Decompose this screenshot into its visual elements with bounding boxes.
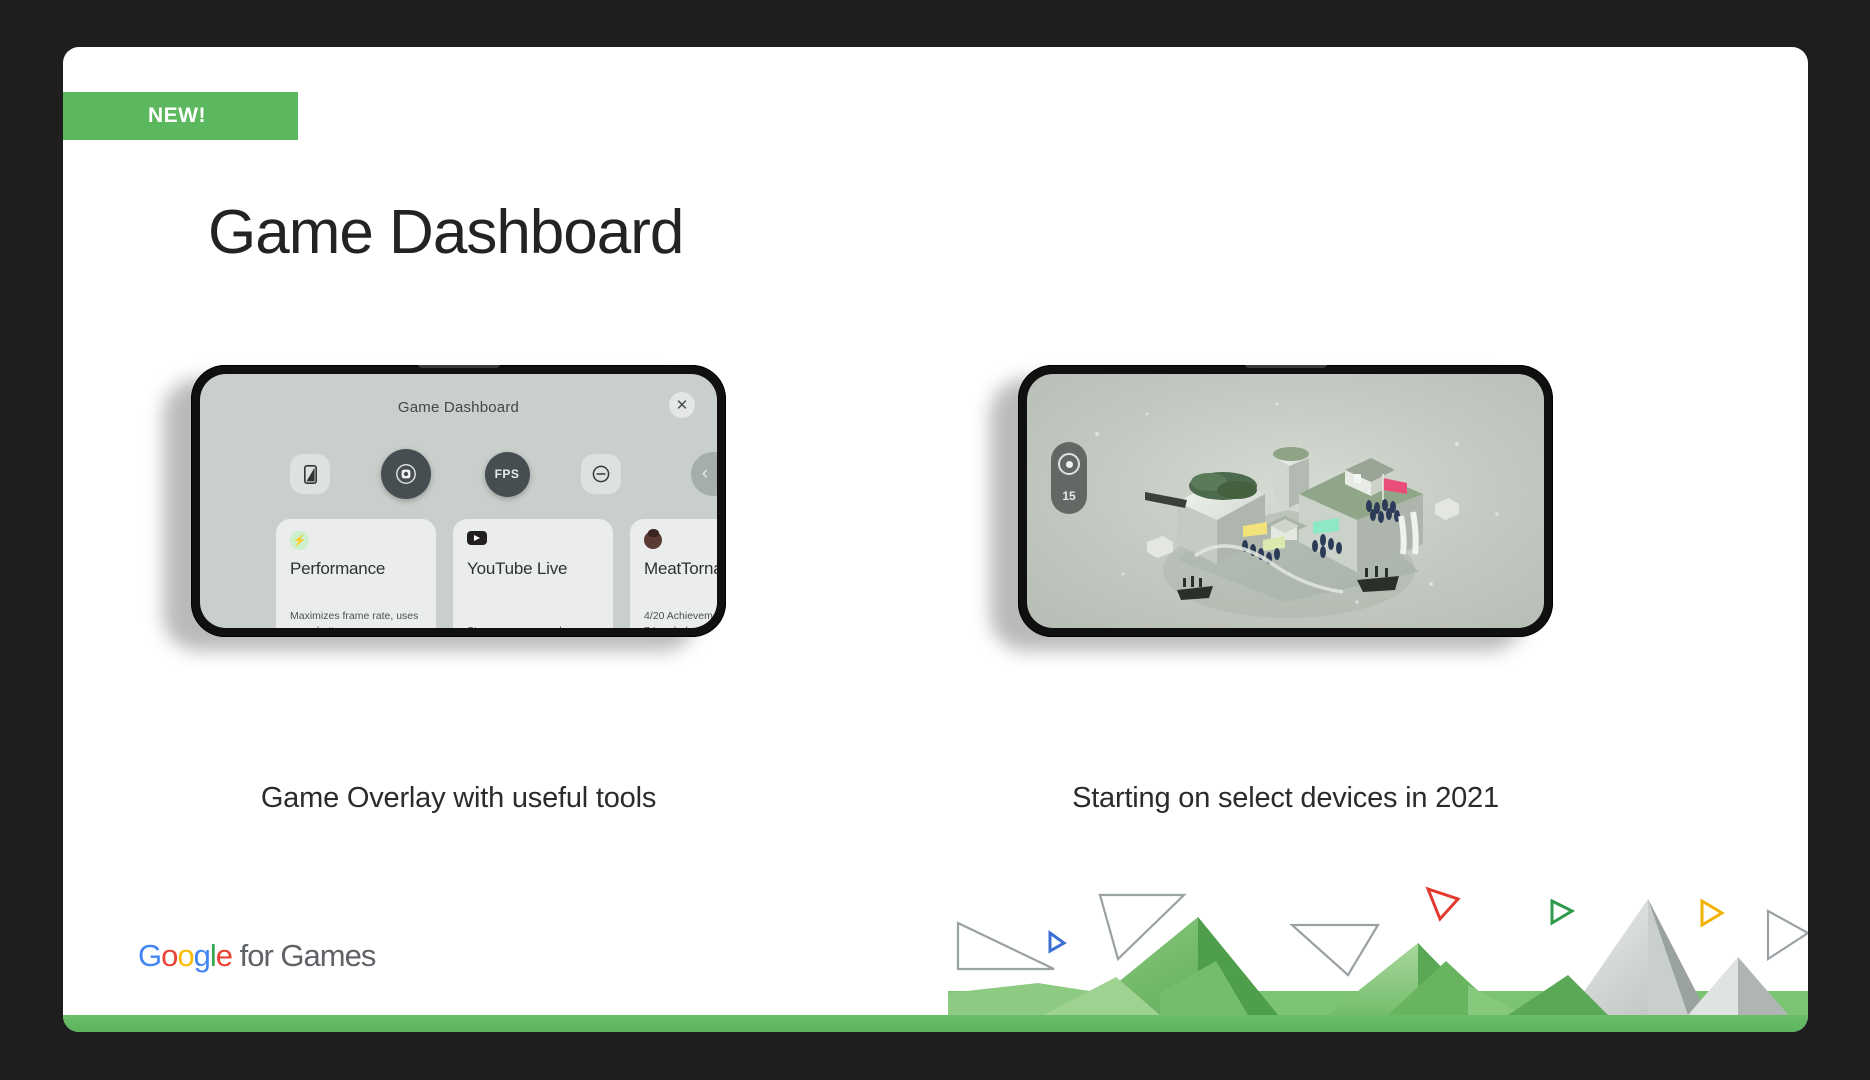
new-badge-label: NEW! [148, 104, 206, 128]
triangle-outline-green [1552, 901, 1572, 923]
triangle-outline-red [1428, 889, 1458, 919]
record-glyph [381, 449, 431, 499]
dnd-icon[interactable] [575, 448, 627, 500]
overlay-title: Game Dashboard [200, 399, 717, 416]
more-chevron-glyph: ‹ [691, 452, 717, 496]
triangle-outline-yellow [1702, 901, 1722, 925]
close-glyph: ✕ [676, 396, 689, 414]
logo-letter-G: G [138, 938, 161, 973]
phone-screen: 15 [1027, 374, 1544, 628]
triangle-outline-gray-4 [1768, 911, 1808, 959]
fps-label: FPS [485, 452, 530, 497]
card-performance[interactable]: ⚡ Performance Maximizes frame rate, uses… [276, 519, 436, 628]
presentation-slide: NEW! Game Dashboard Game Dashboard ✕ [63, 47, 1808, 1032]
youtube-icon [467, 531, 487, 545]
phone-screen: Game Dashboard ✕ [200, 374, 717, 628]
logo-letter-e: e [216, 938, 232, 973]
left-phone-mockup: Game Dashboard ✕ [191, 365, 726, 637]
card-title: MeatTornado [644, 559, 717, 579]
card-player-profile[interactable]: LEVEL 14 MeatTornado 4/20 Achievements7 … [630, 519, 717, 628]
decorative-mountains [948, 865, 1808, 1015]
card-header: LEVEL 14 [644, 531, 717, 557]
logo-letter-o2: o [177, 938, 193, 973]
more-chevron-icon[interactable]: ‹ [687, 448, 717, 500]
logo-letter-g: g [194, 938, 210, 973]
phone-frame: Game Dashboard ✕ [191, 365, 726, 637]
footer-accent-bar [63, 1015, 1808, 1032]
bolt-icon: ⚡ [290, 531, 309, 550]
screenshot-glyph [290, 454, 330, 494]
logo-letter-o1: o [161, 938, 177, 973]
screenshot-icon[interactable] [284, 448, 336, 500]
card-youtube-live[interactable]: YouTube Live Stream your gameplay [453, 519, 613, 628]
card-header [467, 531, 599, 557]
right-phone-mockup: 15 [1018, 365, 1553, 637]
record-icon[interactable] [380, 448, 432, 500]
triangle-outline-gray-3 [1292, 925, 1378, 975]
card-subtitle: Stream your gameplay [467, 624, 601, 628]
dashboard-cards: ⚡ Performance Maximizes frame rate, uses… [200, 519, 717, 628]
card-subtitle: Maximizes frame rate, uses more battery [290, 609, 424, 629]
fps-icon[interactable]: FPS [481, 448, 533, 500]
caption-left: Game Overlay with useful tools [191, 782, 726, 815]
card-title: Performance [290, 559, 385, 579]
hud-counter: 15 [1062, 489, 1075, 503]
phone-speaker [418, 365, 500, 368]
new-badge: NEW! [63, 92, 298, 140]
logo-suffix: for Games [232, 938, 375, 973]
card-title: YouTube Live [467, 559, 567, 579]
phone-speaker [1245, 365, 1327, 368]
triangle-outline-blue [1050, 933, 1064, 951]
dnd-glyph [581, 454, 621, 494]
caption-right: Starting on select devices in 2021 [1018, 782, 1553, 815]
close-icon[interactable]: ✕ [669, 392, 695, 418]
google-for-games-logo: Google for Games [138, 938, 375, 974]
slide-stage: NEW! Game Dashboard Game Dashboard ✕ [0, 0, 1870, 1080]
triangle-outline-gray-1 [958, 923, 1054, 969]
card-subtitle: 4/20 Achievements7 Leaderboards [644, 609, 717, 629]
phone-frame: 15 [1018, 365, 1553, 637]
quick-toggle-row: FPS ‹ [200, 448, 717, 500]
page-title: Game Dashboard [208, 197, 683, 268]
avatar [644, 531, 662, 549]
triangle-outline-gray-2 [1100, 895, 1184, 959]
record-target-icon[interactable] [1058, 453, 1080, 475]
floating-hud-widget[interactable]: 15 [1051, 442, 1087, 514]
card-header: ⚡ [290, 531, 422, 557]
game-scene [1027, 374, 1544, 628]
